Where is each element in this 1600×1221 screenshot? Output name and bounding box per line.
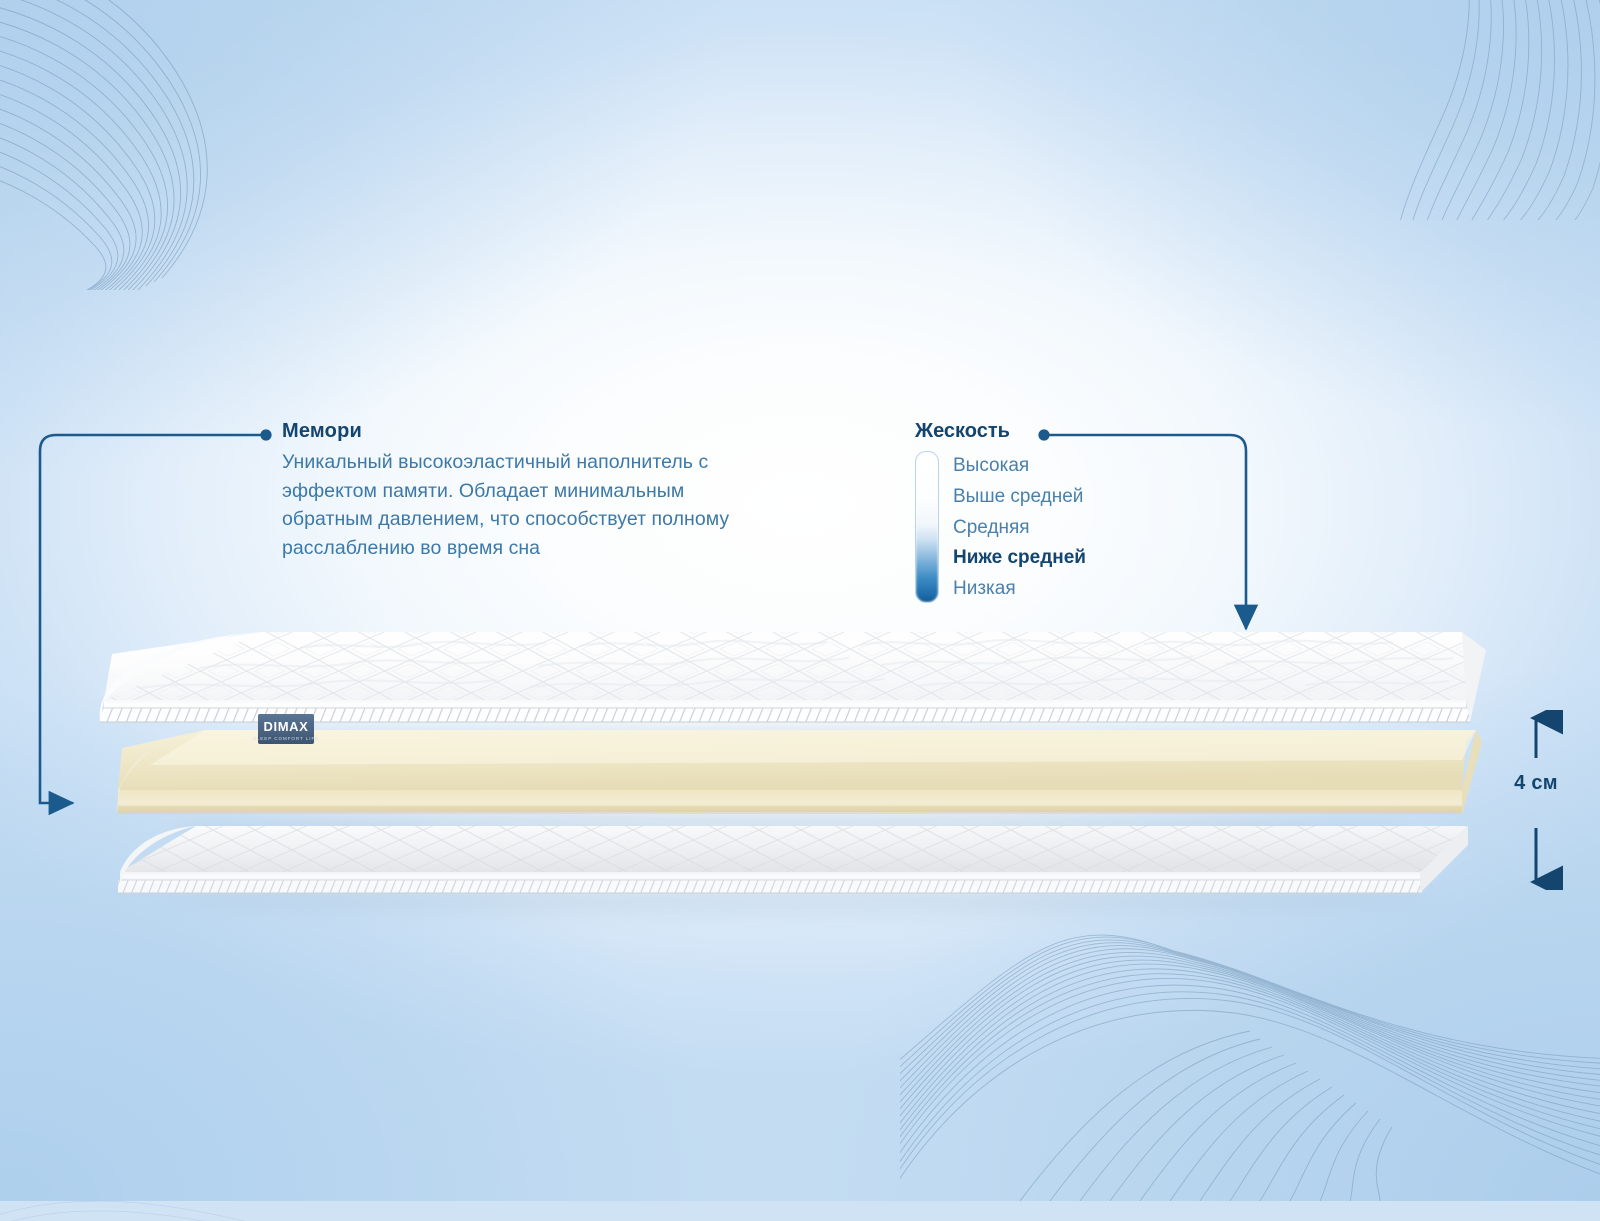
firmness-header: Жескость <box>915 420 1205 442</box>
firmness-title: Жескость <box>915 420 1010 442</box>
brand-logo-text: DIMAX <box>264 719 309 734</box>
mattress-layer-bottom <box>118 826 1468 893</box>
callout-firmness: Жескость Высокая Выше средней Средняя Ни… <box>915 420 1205 605</box>
mattress-layers-illustration: DIMAX SLEEP COMFORT LIFE <box>0 0 1600 1201</box>
firmness-level-item-selected[interactable]: Ниже средней <box>953 543 1086 574</box>
memory-description: Уникальный высокоэластичный наполнитель … <box>282 448 752 563</box>
firmness-level-item[interactable]: Средняя <box>953 513 1086 544</box>
dimension-label: 4 см <box>1490 772 1582 795</box>
dimension-marker: 4 см <box>1490 710 1600 890</box>
brand-logo-tag: DIMAX SLEEP COMFORT LIFE <box>253 714 319 744</box>
firmness-gradient-bar <box>915 451 939 603</box>
brand-logo-subtext: SLEEP COMFORT LIFE <box>253 736 319 741</box>
firmness-level-item[interactable]: Низкая <box>953 574 1086 605</box>
callout-memory: Мемори Уникальный высокоэластичный напол… <box>282 420 752 563</box>
memory-title: Мемори <box>282 420 752 442</box>
mattress-layer-memory-foam <box>117 730 1482 814</box>
firmness-level-item[interactable]: Высокая <box>953 451 1086 482</box>
firmness-scale: Высокая Выше средней Средняя Ниже средне… <box>915 451 1205 605</box>
firmness-level-item[interactable]: Выше средней <box>953 482 1086 513</box>
firmness-level-list: Высокая Выше средней Средняя Ниже средне… <box>953 451 1086 605</box>
mattress-layer-top-cover <box>100 632 1486 722</box>
dimension-arrows <box>1490 710 1600 890</box>
